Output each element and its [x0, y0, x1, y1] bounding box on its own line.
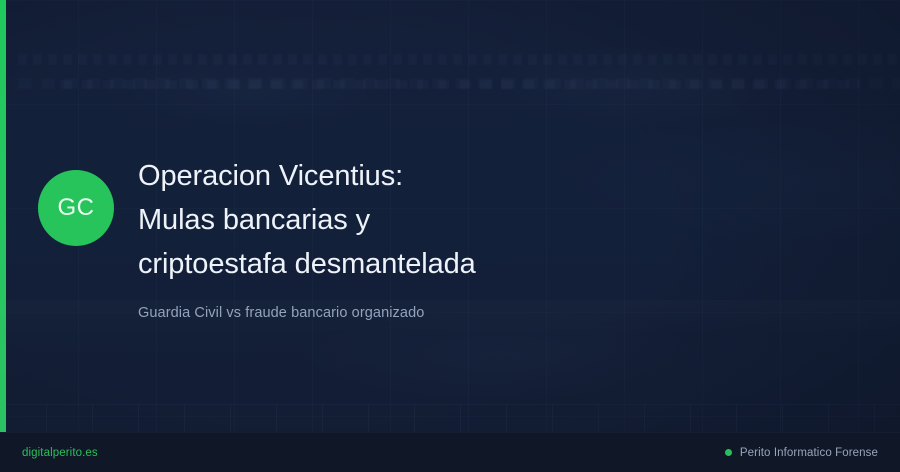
title-block: Operacion Vicentius: Mulas bancarias y c…	[138, 152, 860, 323]
page-title-line-2: Mulas bancarias y	[138, 204, 370, 236]
page-subtitle: Guardia Civil vs fraude bancario organiz…	[138, 303, 860, 323]
page-title-line-1: Operacion Vicentius:	[138, 160, 403, 192]
avatar-initials: GC	[58, 194, 95, 222]
brand-label: digitalperito.es	[22, 447, 98, 459]
status-badge: Perito Informatico Forense	[725, 447, 878, 459]
footer-bar: digitalperito.es Perito Informatico Fore…	[0, 432, 900, 472]
slide-canvas: GC Operacion Vicentius: Mulas bancarias …	[0, 0, 900, 472]
left-accent-bar	[0, 0, 6, 432]
status-dot-icon	[725, 449, 732, 456]
avatar: GC	[38, 170, 114, 246]
page-title-line-3: criptoestafa desmantelada	[138, 248, 476, 280]
status-badge-label: Perito Informatico Forense	[740, 447, 878, 459]
background-ghost-text-rows-secondary	[60, 80, 860, 96]
background-lower-band	[0, 404, 900, 433]
page-title: Operacion Vicentius: Mulas bancarias y c…	[138, 154, 568, 286]
slide-content: GC Operacion Vicentius: Mulas bancarias …	[38, 152, 860, 323]
